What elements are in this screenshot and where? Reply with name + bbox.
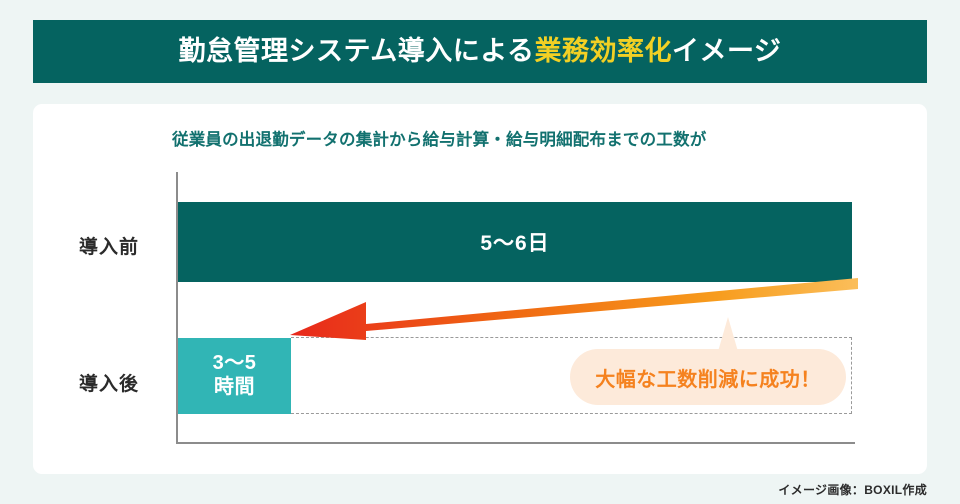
chart-x-axis xyxy=(176,442,855,444)
callout-bubble: 大幅な工数削減に成功！ xyxy=(570,349,846,405)
footer-credit: イメージ画像：BOXIL作成 xyxy=(778,481,927,498)
bar-before: 5〜6日 xyxy=(178,202,852,282)
category-label-after: 導入後 xyxy=(79,369,139,396)
bar-after: 3〜5 時間 xyxy=(178,338,291,414)
category-label-before: 導入前 xyxy=(79,232,139,259)
callout-text: 大幅な工数削減に成功！ xyxy=(595,363,821,392)
page-title-prefix: 勤怠管理システム導入による xyxy=(179,36,535,66)
header-banner: 勤怠管理システム導入による業務効率化イメージ xyxy=(33,20,927,83)
content-card: 従業員の出退勤データの集計から給与計算・給与明細配布までの工数が 導入前 導入後… xyxy=(33,104,927,474)
bar-chart: 導入前 導入後 5〜6日 3〜5 時間 xyxy=(33,104,927,474)
page-title-suffix: イメージ xyxy=(672,36,781,66)
reduction-arrow-icon xyxy=(288,276,858,341)
bar-before-value: 5〜6日 xyxy=(480,227,549,257)
page-title: 勤怠管理システム導入による業務効率化イメージ xyxy=(179,38,782,65)
bar-after-value-line1: 3〜5 xyxy=(213,352,257,376)
bar-after-value-line2: 時間 xyxy=(214,376,255,400)
page-title-highlight: 業務効率化 xyxy=(534,36,672,66)
